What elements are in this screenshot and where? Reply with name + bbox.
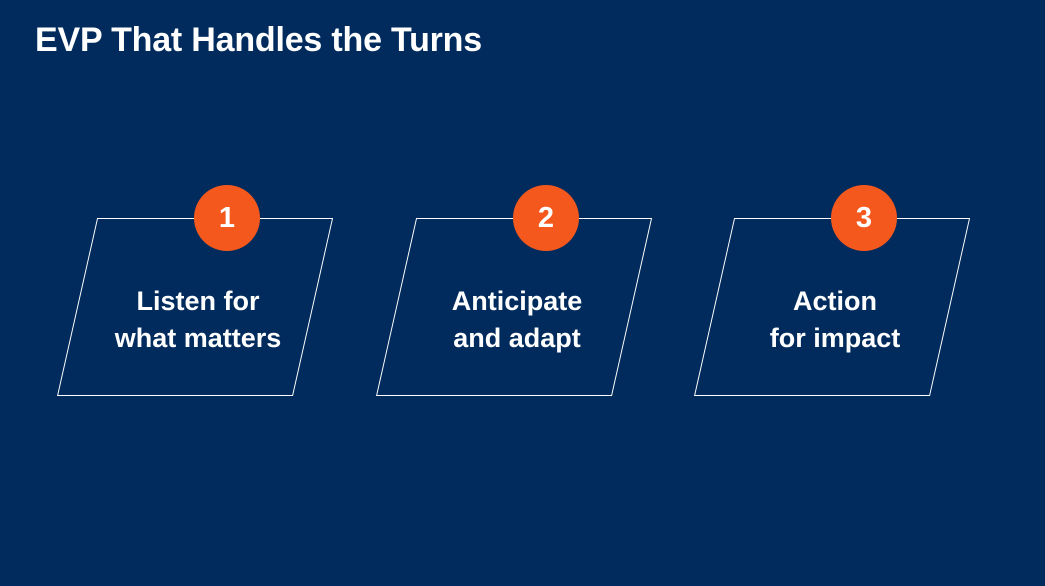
step-number-badge-1: 1: [194, 185, 260, 251]
step-card-2[interactable]: Anticipate and adapt 2: [357, 185, 677, 400]
page-title: EVP That Handles the Turns: [35, 21, 482, 60]
step-number-badge-3: 3: [831, 185, 897, 251]
slide-footer: 6 © 2025 Gartner, Inc. and/or its affili…: [0, 526, 1045, 586]
steps-row: Listen for what matters 1 Anticipate and…: [0, 185, 1045, 400]
step-card-1[interactable]: Listen for what matters 1: [38, 185, 358, 400]
step-number-badge-2: 2: [513, 185, 579, 251]
step-label-2: Anticipate and adapt: [357, 283, 677, 358]
step-label-1: Listen for what matters: [38, 283, 358, 358]
slide: EVP That Handles the Turns Listen for wh…: [0, 0, 1045, 586]
step-card-3[interactable]: Action for impact 3: [675, 185, 995, 400]
step-label-3: Action for impact: [675, 283, 995, 358]
